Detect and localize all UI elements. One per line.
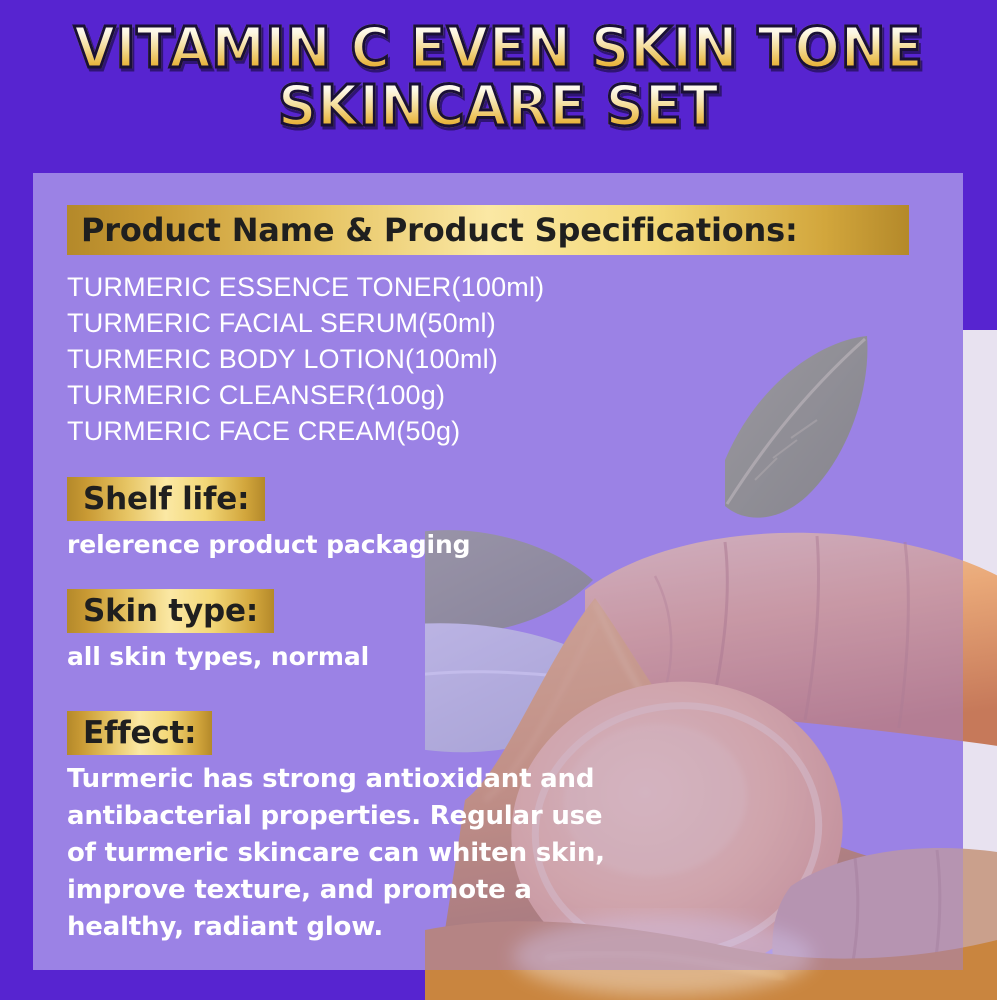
title-line-1: VITAMIN C EVEN SKIN TONE bbox=[20, 20, 977, 78]
product-item-1: TURMERIC ESSENCE TONER(100ml) bbox=[67, 269, 947, 305]
poster-title: VITAMIN C EVEN SKIN TONE SKINCARE SET bbox=[0, 20, 997, 136]
shelf-life-label: Shelf life: bbox=[67, 477, 265, 521]
product-list: TURMERIC ESSENCE TONER(100ml) TURMERIC F… bbox=[67, 269, 947, 449]
product-infographic-poster: VITAMIN C EVEN SKIN TONE SKINCARE SET bbox=[0, 0, 997, 1000]
skin-type-label: Skin type: bbox=[67, 589, 274, 633]
spec-banner-label: Product Name & Product Specifications: bbox=[67, 205, 909, 255]
effect-body-text: Turmeric has strong antioxidant and anti… bbox=[67, 761, 632, 946]
panel-content: Product Name & Product Specifications: T… bbox=[67, 205, 947, 946]
info-panel: Product Name & Product Specifications: T… bbox=[33, 173, 963, 970]
effect-label: Effect: bbox=[67, 711, 212, 755]
product-item-3: TURMERIC BODY LOTION(100ml) bbox=[67, 341, 947, 377]
title-line-2: SKINCARE SET bbox=[20, 78, 977, 136]
shelf-life-value: relerence product packaging bbox=[67, 529, 947, 561]
product-item-4: TURMERIC CLEANSER(100g) bbox=[67, 377, 947, 413]
product-item-2: TURMERIC FACIAL SERUM(50ml) bbox=[67, 305, 947, 341]
product-item-5: TURMERIC FACE CREAM(50g) bbox=[67, 413, 947, 449]
skin-type-value: all skin types, normal bbox=[67, 641, 947, 673]
